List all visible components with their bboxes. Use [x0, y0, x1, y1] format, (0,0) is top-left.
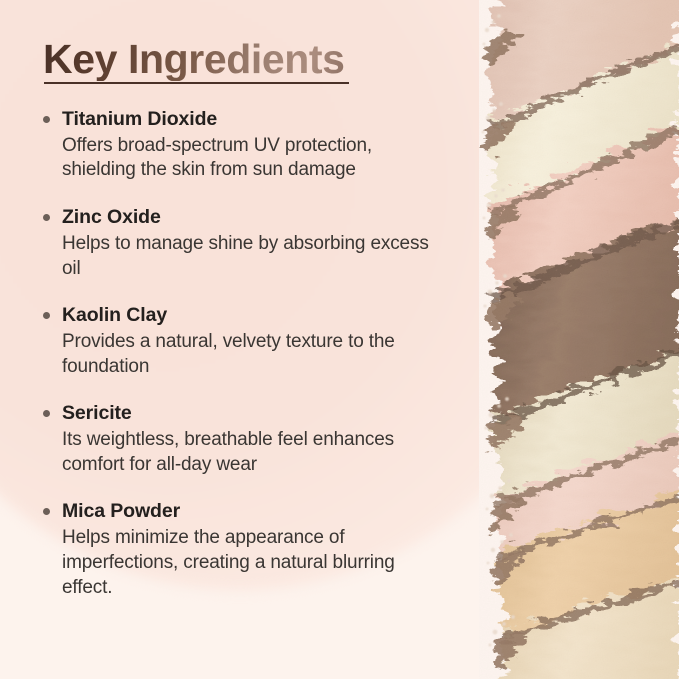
ingredient-name: Kaolin Clay	[62, 303, 450, 329]
ingredient-description: Helps minimize the appearance of imperfe…	[62, 526, 450, 600]
ingredient-name: Sericite	[62, 401, 450, 427]
ingredient-name: Titanium Dioxide	[62, 107, 450, 133]
ingredients-list: Titanium Dioxide Offers broad-spectrum U…	[40, 107, 450, 600]
list-item: Titanium Dioxide Offers broad-spectrum U…	[40, 107, 450, 183]
list-item: Zinc Oxide Helps to manage shine by abso…	[40, 205, 450, 281]
ingredient-name: Mica Powder	[62, 499, 450, 525]
page-title: Key Ingredients	[43, 38, 345, 81]
bullet-icon	[43, 116, 50, 123]
list-item: Kaolin Clay Provides a natural, velvety …	[40, 303, 450, 379]
ingredients-panel: Key Ingredients Titanium Dioxide Offers …	[0, 0, 470, 679]
bullet-icon	[43, 312, 50, 319]
page-title-wrapper: Key Ingredients	[43, 38, 345, 81]
list-item: Mica Powder Helps minimize the appearanc…	[40, 499, 450, 600]
ingredient-description: Offers broad-spectrum UV protection, shi…	[62, 134, 450, 183]
list-item: Sericite Its weightless, breathable feel…	[40, 401, 450, 477]
ingredient-description: Its weightless, breathable feel enhances…	[62, 428, 450, 477]
bullet-icon	[43, 508, 50, 515]
ingredient-description: Provides a natural, velvety texture to t…	[62, 330, 450, 379]
powder-swatch-image	[479, 0, 679, 679]
title-underline	[44, 82, 349, 84]
powder-swatch-svg	[479, 0, 679, 679]
bullet-icon	[43, 410, 50, 417]
bullet-icon	[43, 214, 50, 221]
poster-canvas: Key Ingredients Titanium Dioxide Offers …	[0, 0, 679, 679]
ingredient-description: Helps to manage shine by absorbing exces…	[62, 232, 450, 281]
ingredient-name: Zinc Oxide	[62, 205, 450, 231]
